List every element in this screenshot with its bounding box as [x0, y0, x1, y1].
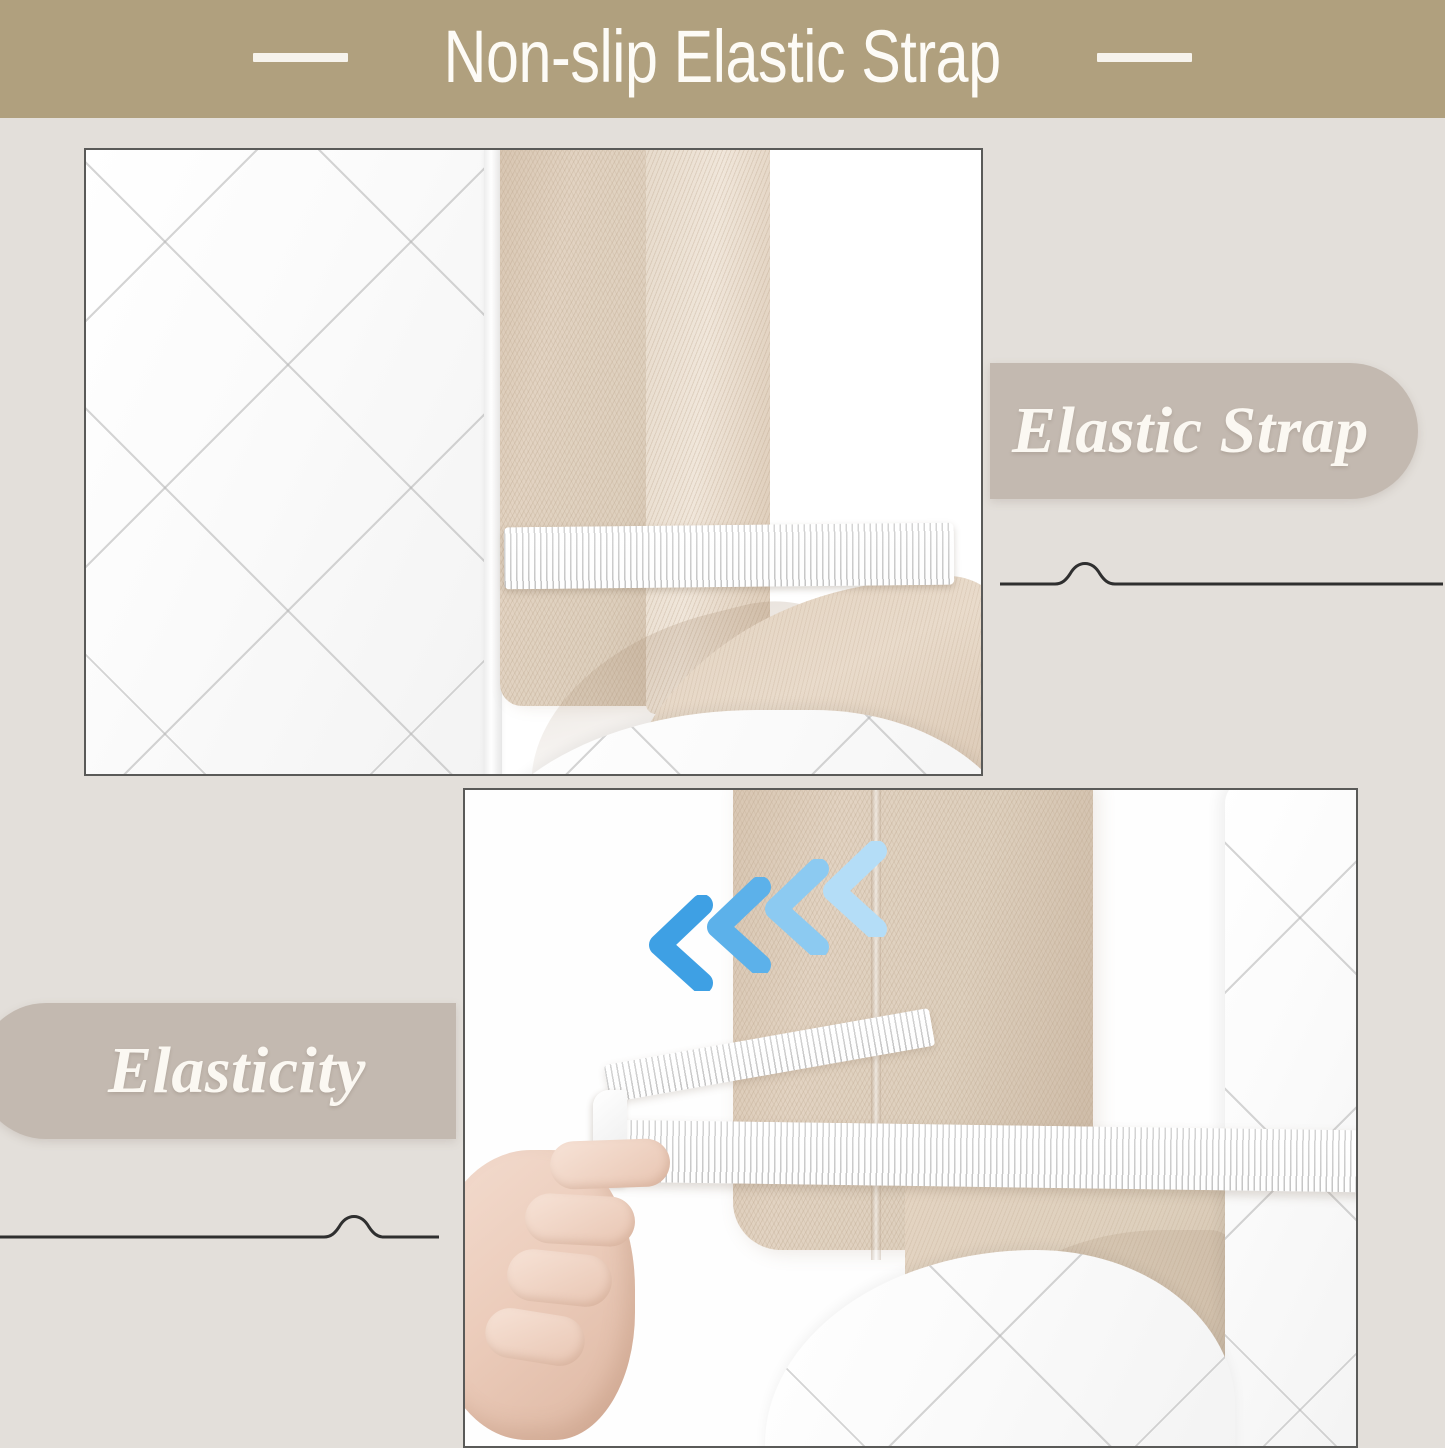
quilted-fabric-right [1225, 788, 1358, 1448]
connector-line-left [0, 1205, 439, 1249]
title-dash-left [253, 53, 348, 62]
label-pill-elastic-strap: Elastic Strap [990, 363, 1418, 499]
quilted-fabric-panel [86, 150, 490, 776]
title-dash-right [1097, 53, 1192, 62]
label-text-elastic-strap: Elastic Strap [1012, 393, 1369, 469]
label-pill-elasticity: Elasticity [0, 1003, 456, 1139]
motion-chevrons-group [640, 845, 900, 1015]
elastic-strap-stretched-lower [600, 1120, 1358, 1193]
page-title: Non-slip Elastic Strap [444, 20, 1001, 94]
photo-elastic-strap-closeup [84, 148, 983, 776]
header-inner: Non-slip Elastic Strap [253, 20, 1191, 94]
photo-elasticity-demo [463, 788, 1358, 1448]
connector-line-right [1000, 552, 1445, 596]
label-text-elasticity: Elasticity [108, 1033, 366, 1109]
elastic-strap-band [504, 523, 955, 590]
finger-middle [524, 1192, 636, 1248]
chevron-left-icon-4 [814, 841, 888, 937]
finger-index [549, 1138, 671, 1190]
header-bar: Non-slip Elastic Strap [0, 0, 1445, 118]
